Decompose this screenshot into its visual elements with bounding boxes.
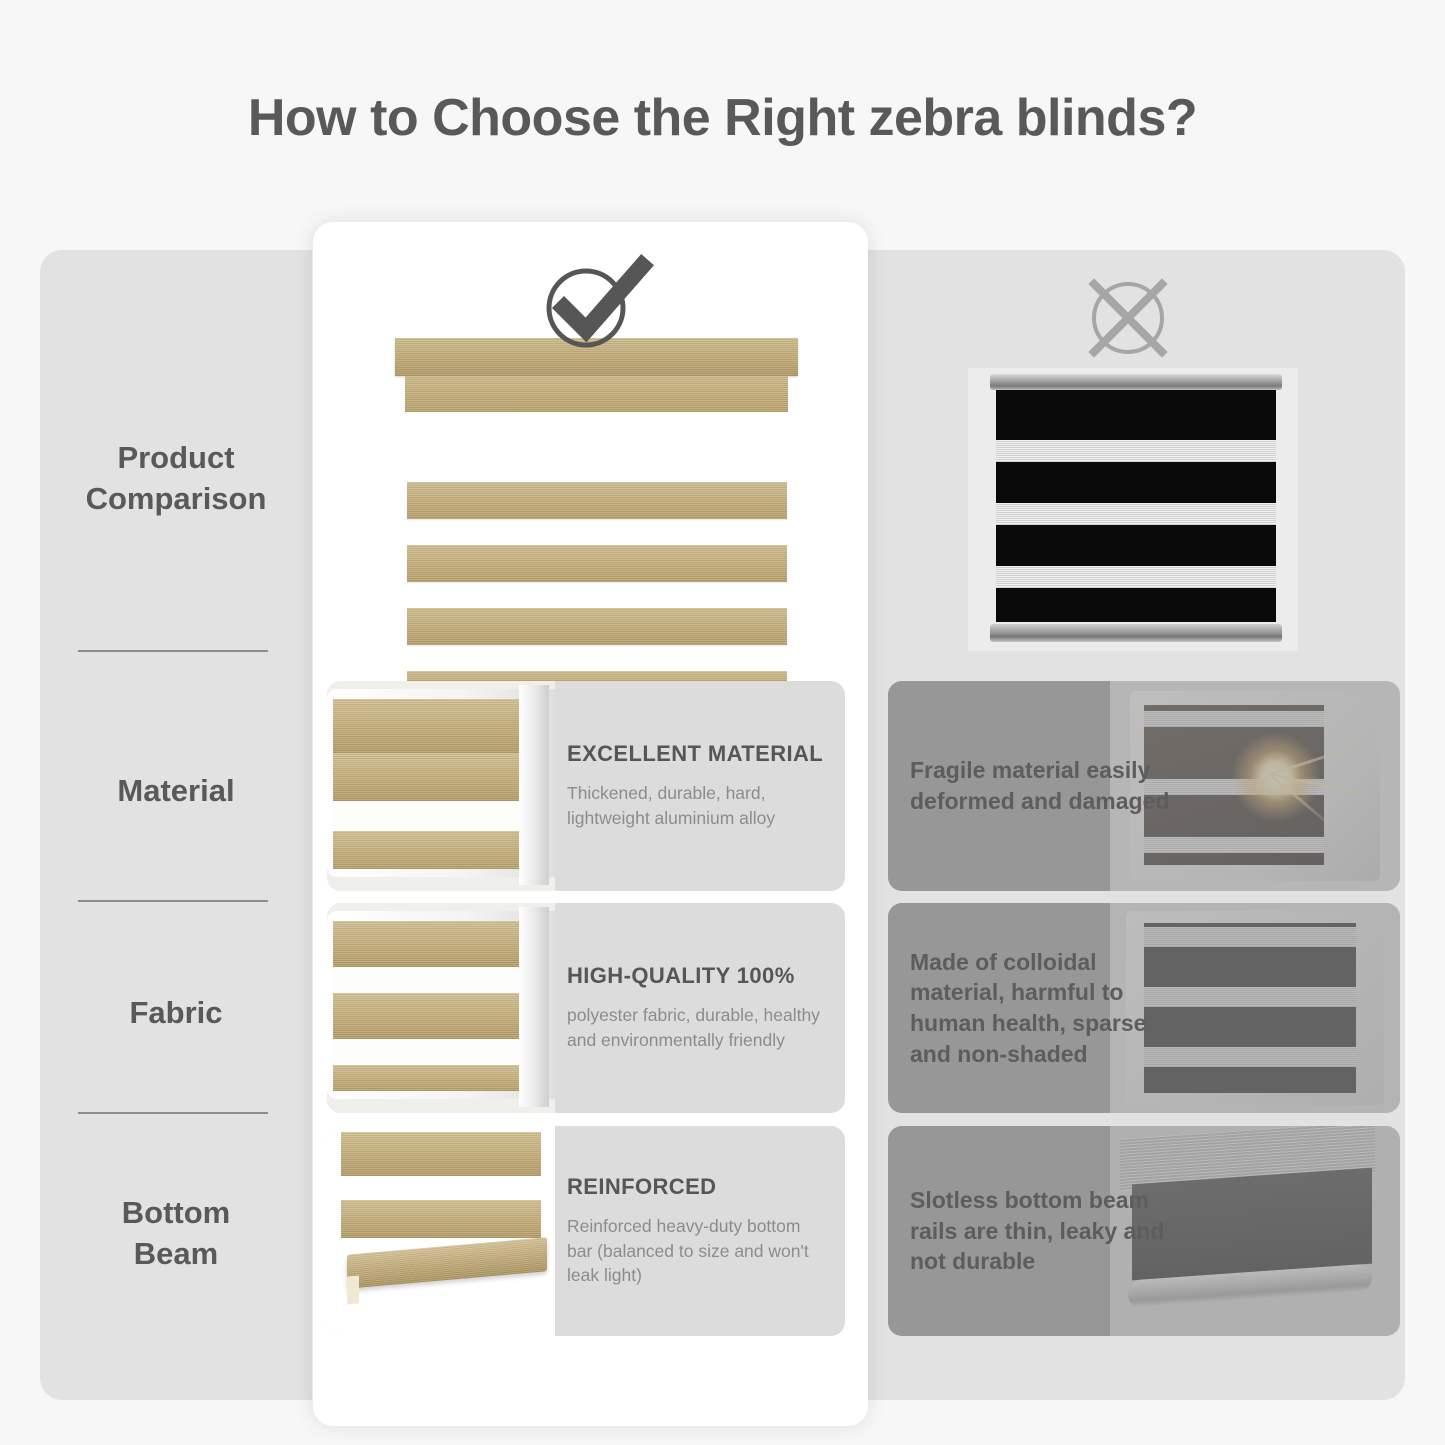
row-label-line2: Comparison [40,478,312,519]
bad-feature-card-material: Fragile material easily deformed and dam… [888,681,1400,891]
blind-headrail [990,374,1282,390]
bad-material-text: Fragile material easily deformed and dam… [910,681,1170,891]
good-feature-card-bottom-beam: REINFORCED Reinforced heavy-duty bottom … [327,1126,845,1336]
blind-fabric [996,390,1276,622]
row-label-line1: Product [40,437,312,478]
card-body: polyester fabric, durable, healthy and e… [567,1003,827,1053]
blind-sheer-stripe [996,503,1276,525]
row-label-material: Material [40,770,312,811]
good-bottom-beam-photo [327,1126,555,1336]
blind-sheer-stripe [996,566,1276,588]
blind-bottom-rail [990,624,1282,642]
card-heading: HIGH-QUALITY 100% [567,963,827,989]
card-body: Slotless bottom beam rails are thin, lea… [910,1185,1170,1277]
blind-band [407,608,787,645]
good-feature-card-fabric: HIGH-QUALITY 100% polyester fabric, dura… [327,903,845,1113]
bad-bottom-beam-text: Slotless bottom beam rails are thin, lea… [910,1126,1170,1336]
row-label-bottom-beam: Bottom Beam [40,1192,312,1274]
good-fabric-photo [327,903,555,1113]
row-label-line1: Bottom [40,1192,312,1233]
card-body: Reinforced heavy-duty bottom bar (balanc… [567,1214,827,1289]
row-divider-3 [78,1112,268,1114]
check-circle-icon [534,252,654,352]
row-label-line1: Material [40,770,312,811]
infographic-page: How to Choose the Right zebra blinds? Pr… [0,0,1445,1445]
good-product-image [383,338,798,668]
card-heading: EXCELLENT MATERIAL [567,741,827,767]
bad-fabric-text: Made of colloidal material, harmful to h… [910,903,1170,1113]
row-divider-2 [78,900,268,902]
bad-product-image [968,368,1298,651]
card-body: Made of colloidal material, harmful to h… [910,947,1170,1069]
bad-feature-card-fabric: Made of colloidal material, harmful to h… [888,903,1400,1113]
card-body: Thickened, durable, hard, lightweight al… [567,781,827,831]
card-heading: REINFORCED [567,1174,827,1200]
good-material-text: EXCELLENT MATERIAL Thickened, durable, h… [567,681,845,891]
blind-band [407,482,787,519]
bad-feature-card-bottom-beam: Slotless bottom beam rails are thin, lea… [888,1126,1400,1336]
row-label-line1: Fabric [40,992,312,1033]
row-label-line2: Beam [40,1233,312,1274]
blind-top-band [405,376,788,412]
row-label-product-comparison: Product Comparison [40,437,312,519]
good-material-photo [327,681,555,891]
row-divider-1 [78,650,268,652]
card-body: Fragile material easily deformed and dam… [910,755,1170,816]
page-title: How to Choose the Right zebra blinds? [0,88,1445,148]
row-label-fabric: Fabric [40,992,312,1033]
good-fabric-text: HIGH-QUALITY 100% polyester fabric, dura… [567,903,845,1113]
cross-circle-icon [1073,272,1183,364]
good-bottom-beam-text: REINFORCED Reinforced heavy-duty bottom … [567,1126,845,1336]
blind-sheer-stripe [996,440,1276,462]
blind-band [407,545,787,582]
good-feature-card-material: EXCELLENT MATERIAL Thickened, durable, h… [327,681,845,891]
